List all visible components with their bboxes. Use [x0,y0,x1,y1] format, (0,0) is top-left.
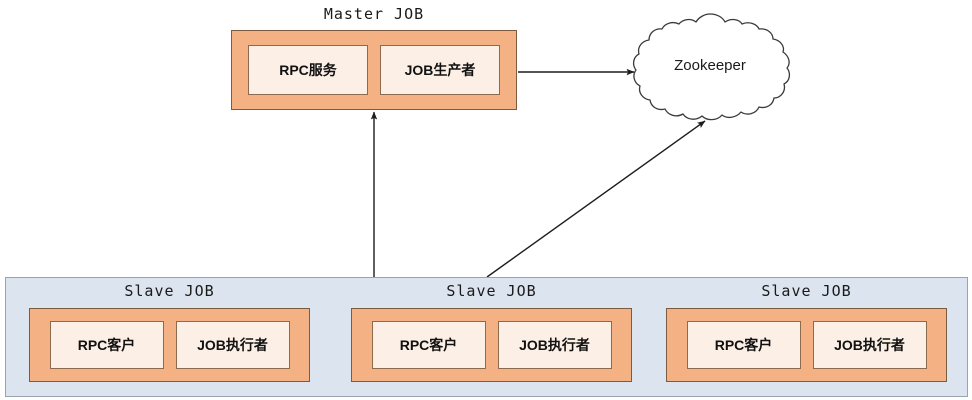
slave-component-job-executor-2[interactable]: JOB执行者 [498,321,612,369]
slave-component-job-executor-1[interactable]: JOB执行者 [176,321,290,369]
slave-component-rpc-client-3[interactable]: RPC客户 [687,321,801,369]
master-job-title: Master JOB [231,5,517,23]
master-job-box[interactable]: RPC服务 JOB生产者 [231,30,517,110]
slave-job-box-3[interactable]: RPC客户 JOB执行者 [666,308,947,382]
slave-job-box-2[interactable]: RPC客户 JOB执行者 [351,308,632,382]
zookeeper-label: Zookeeper [626,57,794,74]
slave-component-job-executor-3[interactable]: JOB执行者 [813,321,927,369]
slave-job-title-3: Slave JOB [651,282,962,300]
architecture-diagram: Master JOB RPC服务 JOB生产者 Zookeeper Slave … [0,0,972,400]
slave-component-rpc-client-1[interactable]: RPC客户 [50,321,164,369]
slave-job-group-1[interactable]: Slave JOB RPC客户 JOB执行者 [14,278,325,396]
slave-job-title-2: Slave JOB [336,282,647,300]
master-component-job-producer[interactable]: JOB生产者 [380,45,500,95]
slave-job-box-1[interactable]: RPC客户 JOB执行者 [29,308,310,382]
slave-job-title-1: Slave JOB [14,282,325,300]
slave-component-rpc-client-2[interactable]: RPC客户 [372,321,486,369]
slave-job-group-2[interactable]: Slave JOB RPC客户 JOB执行者 [336,278,647,396]
slaves-container: Slave JOB RPC客户 JOB执行者 Slave JOB RPC客户 J… [5,277,968,397]
arrow-slave-to-zookeeper [487,121,705,277]
slave-job-group-3[interactable]: Slave JOB RPC客户 JOB执行者 [651,278,962,396]
master-component-rpc-service[interactable]: RPC服务 [248,45,368,95]
